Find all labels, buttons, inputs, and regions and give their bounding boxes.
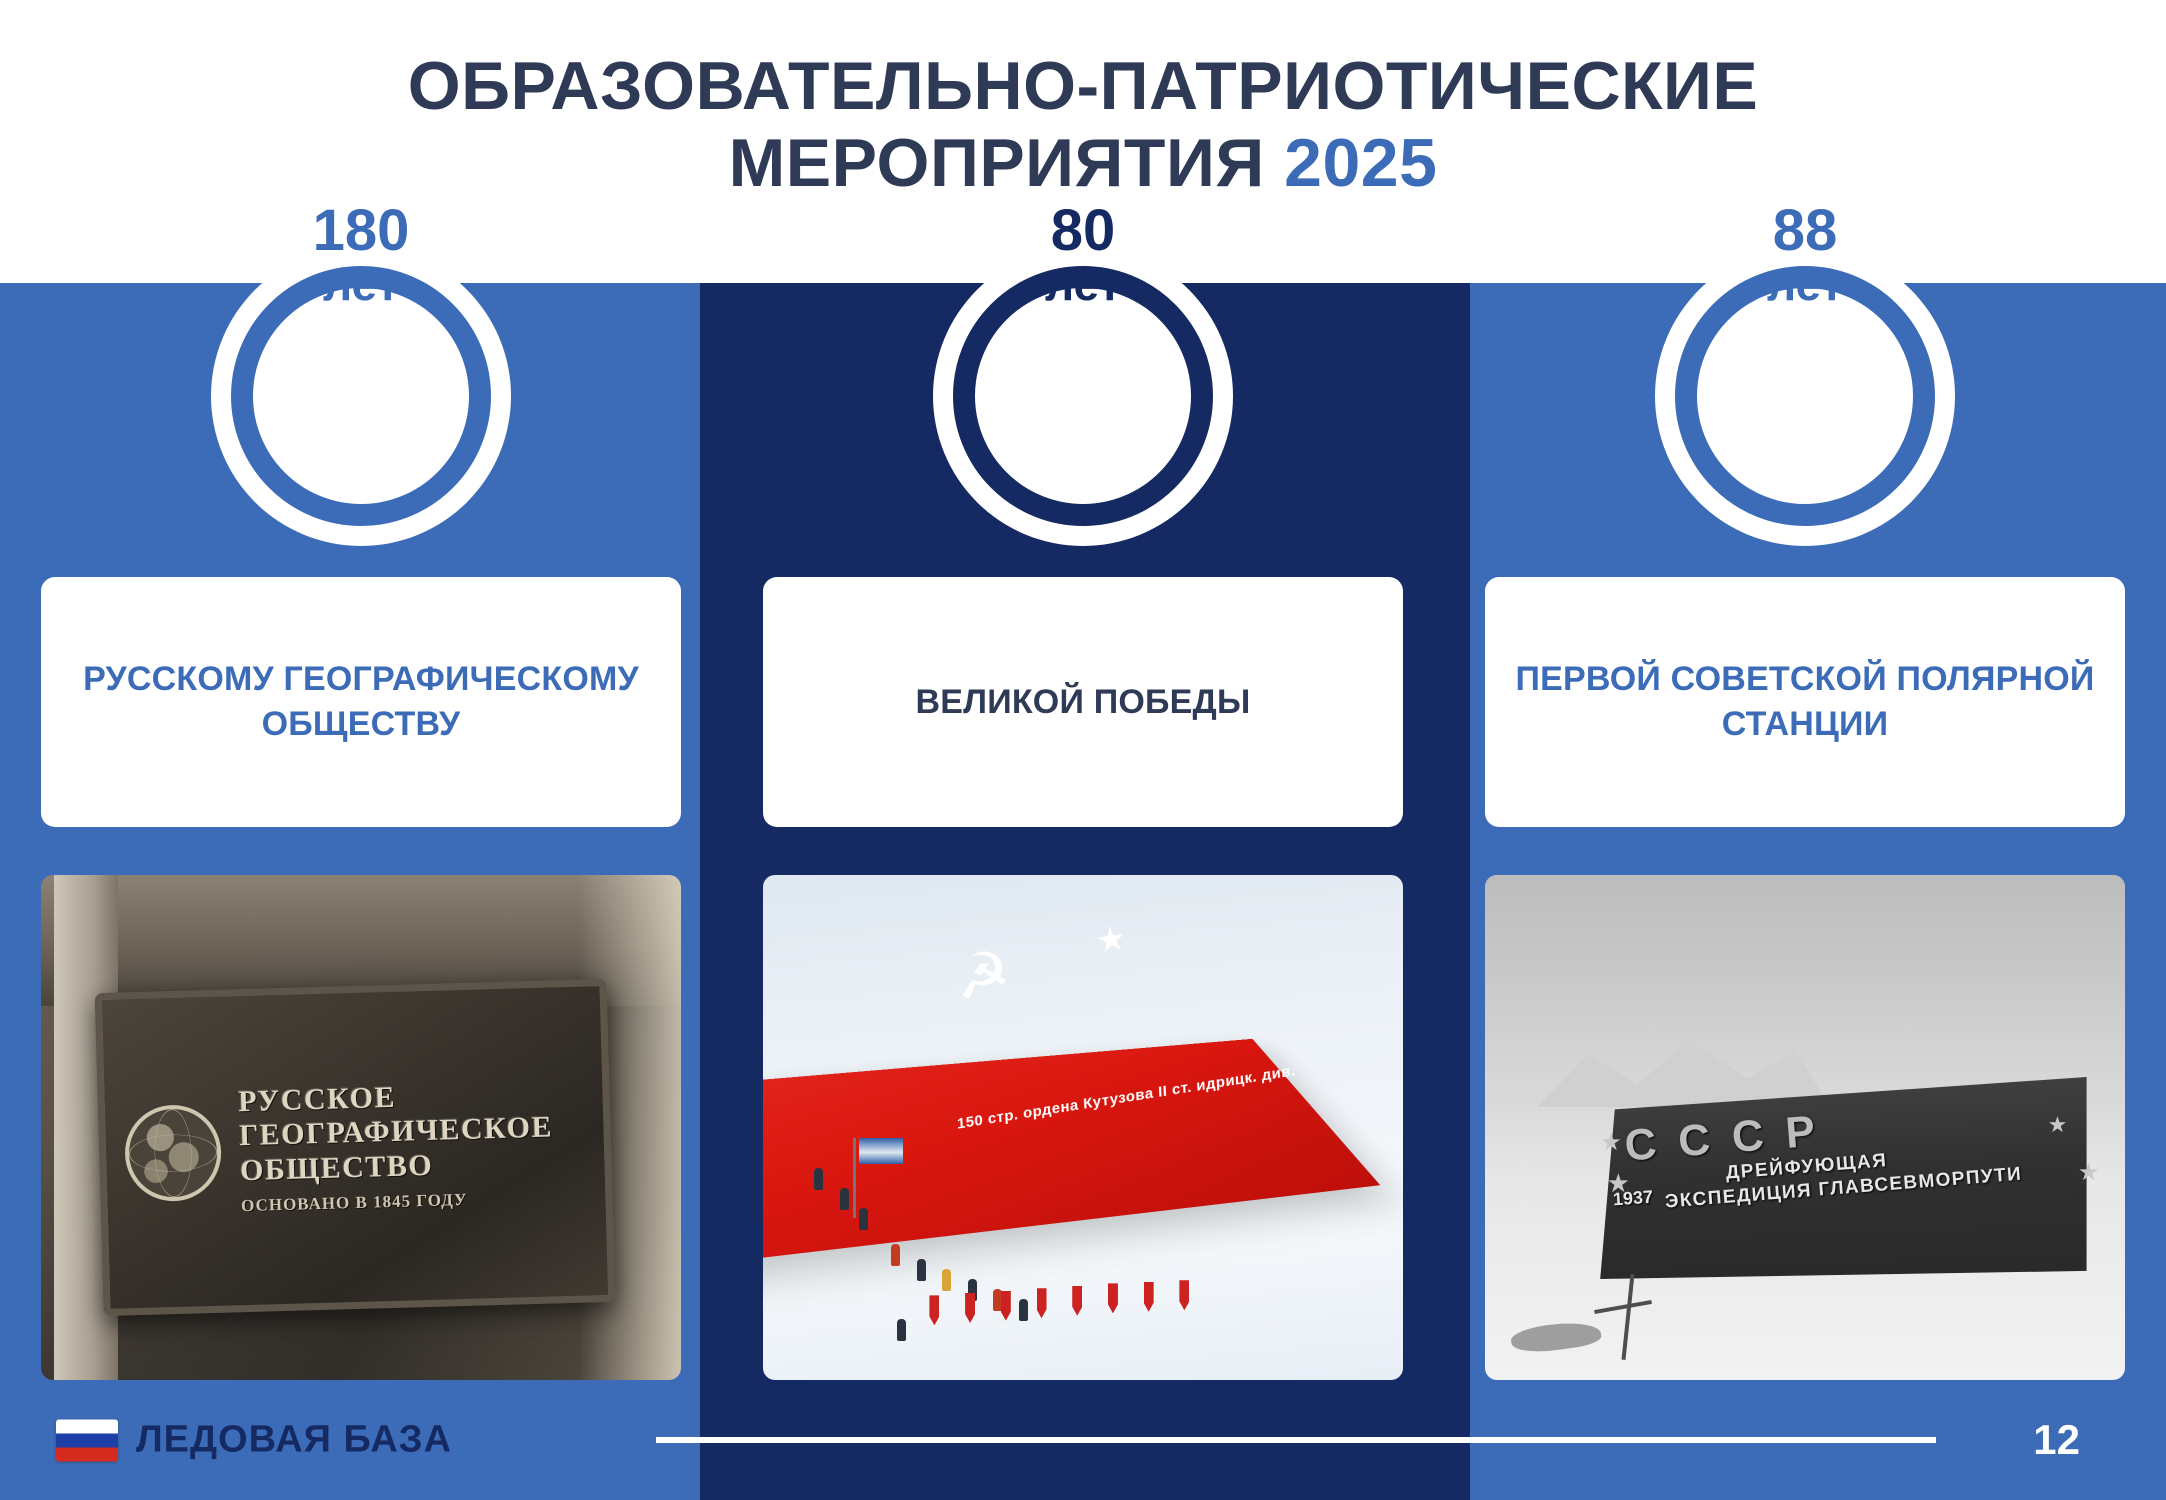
tent-year: 1937 bbox=[1612, 1187, 1653, 1211]
slide-footer: ЛЕДОВАЯ БАЗА 12 bbox=[0, 1380, 2166, 1500]
badge-number: 88 bbox=[1773, 202, 1838, 260]
footer-divider bbox=[656, 1437, 1936, 1443]
column-polar-station: 88 лет ПЕРВОЙ СОВЕТСКОЙ ПОЛЯРНОЙ СТАНЦИИ… bbox=[1444, 0, 2166, 1500]
brand-name: ЛЕДОВАЯ БАЗА bbox=[136, 1419, 452, 1462]
plaque-text: РУССКОЕ ГЕОГРАФИЧЕСКОЕ ОБЩЕСТВО ОСНОВАНО… bbox=[237, 1076, 586, 1217]
info-card-text: РУССКОМУ ГЕОГРАФИЧЕСКОМУ ОБЩЕСТВУ bbox=[67, 657, 655, 747]
star-icon: ★ bbox=[1600, 1128, 1622, 1157]
star-icon: ★ bbox=[2078, 1158, 2100, 1187]
plaque-subtitle: ОСНОВАНО В 1845 ГОДУ bbox=[240, 1187, 586, 1217]
victory-banner-photo: ☭ ★ 150 стр. ордена Кутузова II ст. идри… bbox=[763, 875, 1403, 1380]
snow-debris bbox=[1509, 1318, 1602, 1356]
info-card-rgo[interactable]: РУССКОМУ ГЕОГРАФИЧЕСКОМУ ОБЩЕСТВУ bbox=[41, 577, 681, 827]
anniversary-badge-88 bbox=[1675, 266, 1935, 526]
rgo-plaque-photo: РУССКОЕ ГЕОГРАФИЧЕСКОЕ ОБЩЕСТВО ОСНОВАНО… bbox=[41, 875, 681, 1380]
brand-logo: ЛЕДОВАЯ БАЗА bbox=[56, 1419, 452, 1462]
badge-number: 180 bbox=[313, 202, 410, 260]
info-card-text: ВЕЛИКОЙ ПОБЕДЫ bbox=[916, 680, 1251, 725]
column-rgo: 180 лет РУССКОМУ ГЕОГРАФИЧЕСКОМУ ОБЩЕСТВ… bbox=[0, 0, 722, 1500]
anniversary-badge-80 bbox=[953, 266, 1213, 526]
column-victory: 80 лет ВЕЛИКОЙ ПОБЕДЫ ☭ ★ 150 стр. орден… bbox=[722, 0, 1444, 1500]
badge-ring-icon bbox=[1675, 266, 1935, 526]
pennant-line bbox=[929, 1279, 1326, 1319]
anniversary-badge-180 bbox=[231, 266, 491, 526]
russian-flag-icon bbox=[56, 1419, 118, 1461]
badge-number: 80 bbox=[1051, 202, 1116, 260]
columns-container: 180 лет РУССКОМУ ГЕОГРАФИЧЕСКОМУ ОБЩЕСТВ… bbox=[0, 0, 2166, 1500]
info-card-victory[interactable]: ВЕЛИКОЙ ПОБЕДЫ bbox=[763, 577, 1403, 827]
badge-ring-icon bbox=[953, 266, 1213, 526]
info-card-polar-station[interactable]: ПЕРВОЙ СОВЕТСКОЙ ПОЛЯРНОЙ СТАНЦИИ bbox=[1485, 577, 2125, 827]
badge-ring-icon bbox=[231, 266, 491, 526]
polar-station-tent-photo: ★ ★ ★ ★ СССР ДРЕЙФУЮЩАЯ ЭКСПЕДИЦИЯ ГЛАВС… bbox=[1485, 875, 2125, 1380]
mast bbox=[1621, 1274, 1634, 1360]
page-number: 12 bbox=[2033, 1416, 2080, 1464]
plaque: РУССКОЕ ГЕОГРАФИЧЕСКОЕ ОБЩЕСТВО ОСНОВАНО… bbox=[94, 979, 615, 1316]
info-card-text: ПЕРВОЙ СОВЕТСКОЙ ПОЛЯРНОЙ СТАНЦИИ bbox=[1511, 657, 2099, 747]
mast-crossbar bbox=[1594, 1300, 1652, 1314]
globe-icon bbox=[124, 1103, 223, 1202]
